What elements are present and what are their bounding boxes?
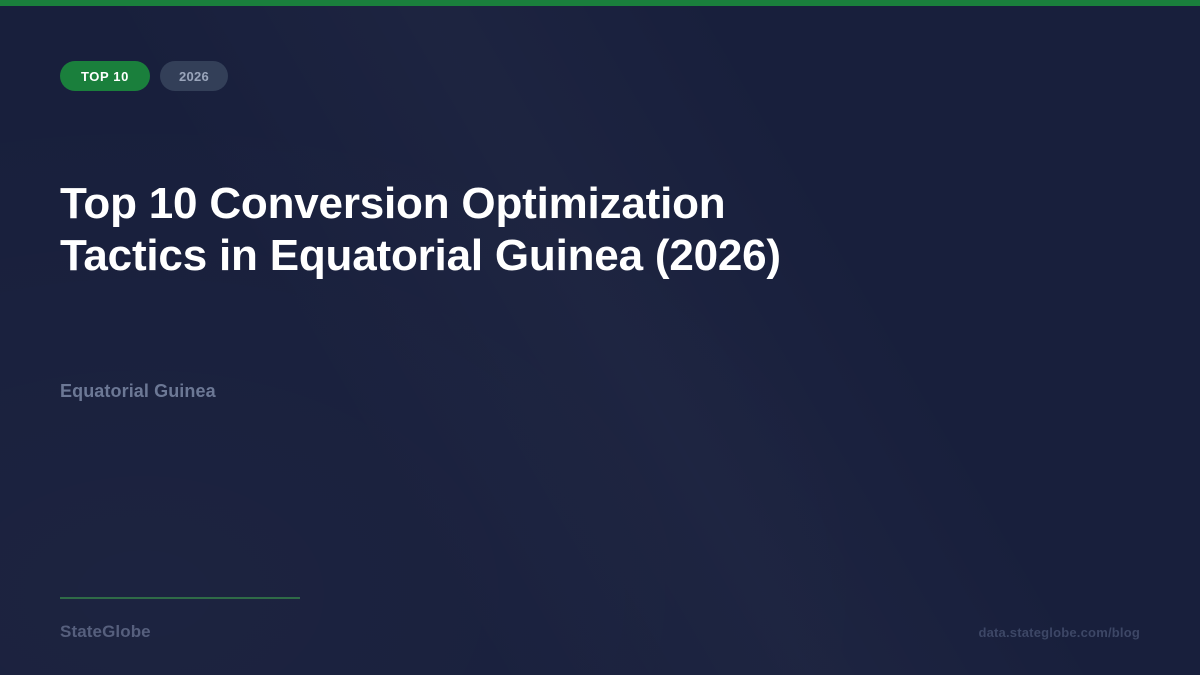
- subtitle-region: Equatorial Guinea: [60, 381, 216, 402]
- footer-divider: [60, 597, 300, 599]
- footer-brand: StateGlobe: [60, 622, 151, 642]
- title-slide: TOP 10 2026 Top 10 Conversion Optimizati…: [0, 0, 1200, 675]
- top-accent-bar: [0, 0, 1200, 6]
- badge-row: TOP 10 2026: [60, 61, 228, 91]
- footer-url[interactable]: data.stateglobe.com/blog: [978, 625, 1140, 640]
- badge-top-10[interactable]: TOP 10: [60, 61, 150, 91]
- badge-year[interactable]: 2026: [160, 61, 228, 91]
- page-title: Top 10 Conversion Optimization Tactics i…: [60, 178, 800, 282]
